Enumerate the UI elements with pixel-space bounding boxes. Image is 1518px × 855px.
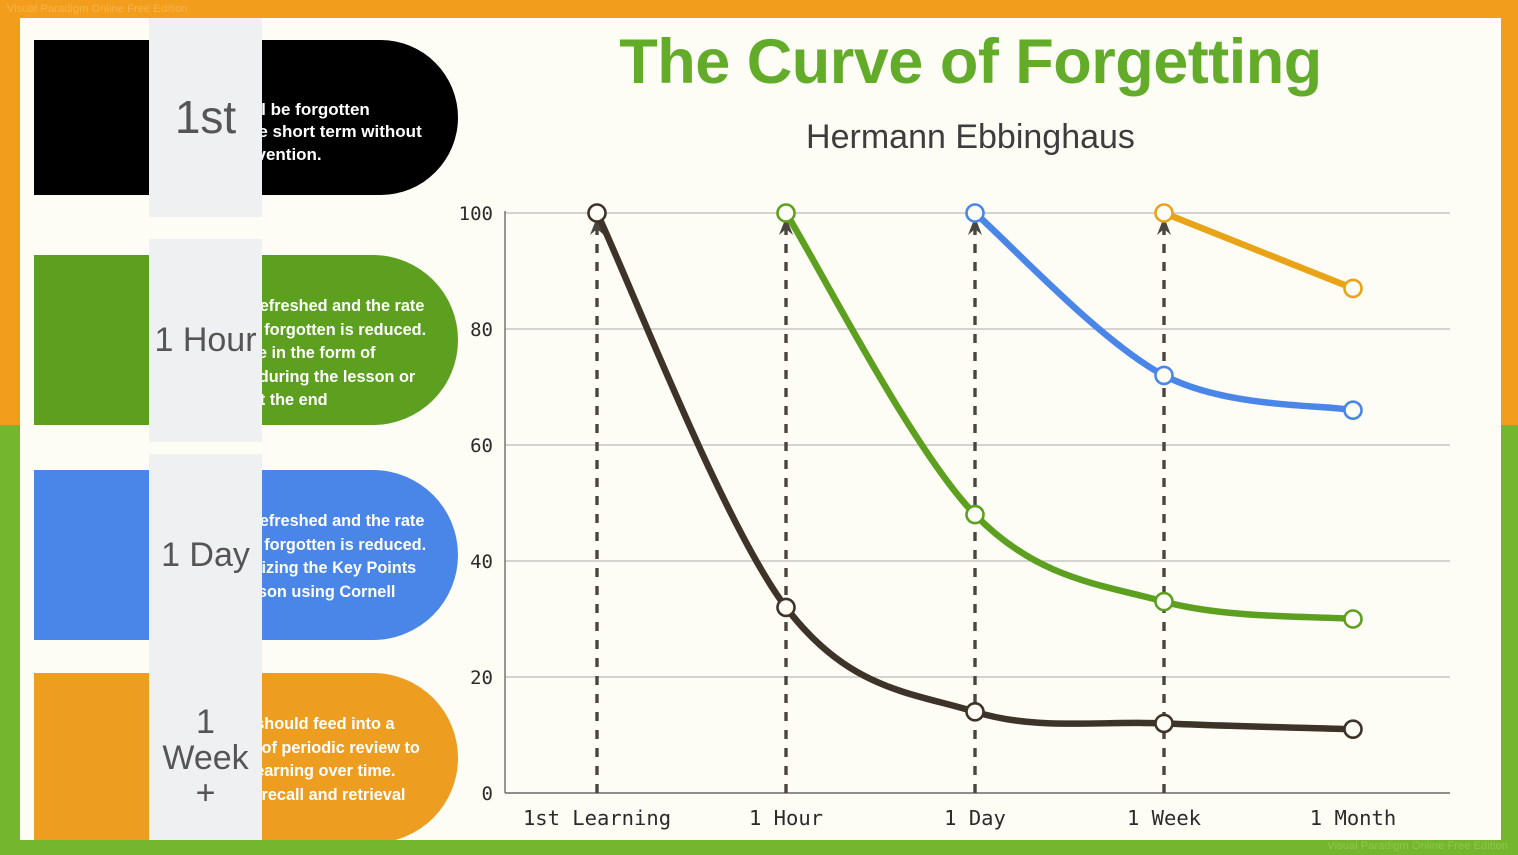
x-tick-label: 1st Learning	[523, 806, 671, 830]
series-review-1	[778, 205, 1362, 628]
card-learning-badge: 1st	[149, 18, 262, 217]
card-review-3-badge: 1 Week +	[149, 657, 262, 840]
data-point	[1156, 715, 1173, 732]
data-point	[1345, 721, 1362, 738]
card-learning[interactable]: Learning Learning will be forgotten rapi…	[34, 40, 458, 195]
card-review-1-badge: 1 Hour	[149, 239, 262, 442]
data-point	[1345, 280, 1362, 297]
data-point	[1345, 611, 1362, 628]
chart-region: The Curve of Forgetting Hermann Ebbingha…	[440, 18, 1501, 840]
data-point	[778, 599, 795, 616]
card-review-1[interactable]: Review 1 Learning is refreshed and the r…	[34, 255, 458, 425]
data-point	[967, 703, 984, 720]
card-review-2-badge: 1 Day	[149, 454, 262, 657]
y-tick-label: 100	[459, 203, 493, 225]
watermark-top: Visual Paradigm Online Free Edition	[7, 3, 188, 15]
series-review-3	[1156, 205, 1362, 297]
x-tick-label: 1 Day	[944, 806, 1006, 830]
y-tick-label: 20	[470, 667, 493, 689]
watermark-bottom: Visual Paradigm Online Free Edition	[1327, 840, 1508, 852]
y-tick-label: 60	[470, 435, 493, 457]
data-point	[1156, 367, 1173, 384]
data-point	[967, 205, 984, 222]
data-point	[1156, 205, 1173, 222]
y-tick-label: 0	[482, 783, 493, 805]
forgetting-curve-plot: 0204060801001st Learning1 Hour1 Day1 Wee…	[440, 18, 1501, 840]
card-review-2[interactable]: Review 2 Learning is refreshed and the r…	[34, 470, 458, 640]
y-tick-label: 40	[470, 551, 493, 573]
series-review-2	[967, 205, 1362, 419]
x-tick-label: 1 Week	[1127, 806, 1202, 830]
x-tick-label: 1 Month	[1310, 806, 1396, 830]
data-point	[1345, 402, 1362, 419]
data-point	[589, 205, 606, 222]
data-point	[778, 205, 795, 222]
infographic-canvas: Learning Learning will be forgotten rapi…	[20, 18, 1501, 840]
data-point	[967, 506, 984, 523]
x-tick-label: 1 Hour	[749, 806, 823, 830]
card-review-3[interactable]: Review 3 This review should feed into a …	[34, 673, 458, 840]
data-point	[1156, 593, 1173, 610]
y-tick-label: 80	[470, 319, 493, 341]
